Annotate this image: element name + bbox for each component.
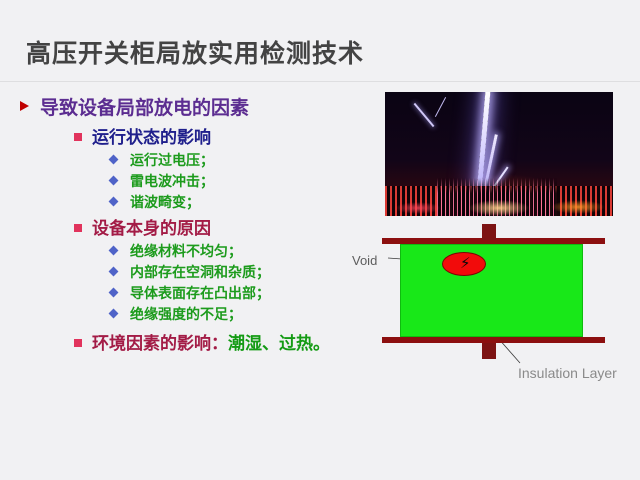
list-item-label: 导体表面存在凸出部；: [130, 285, 270, 301]
list-item-label: 雷电波冲击；: [130, 173, 214, 189]
outline-section-heading: 运行状态的影响: [18, 125, 388, 150]
title-bar: 高压开关柜局放实用检测技术: [0, 34, 640, 88]
title-divider: [0, 81, 640, 82]
square-bullet-icon: [74, 133, 82, 141]
discharge-spark-icon: ⚡: [460, 256, 468, 272]
list-item-label: 绝缘材料不均匀；: [130, 243, 242, 259]
diamond-bullet-icon: [109, 246, 119, 256]
list-item: 导体表面存在凸出部；: [18, 283, 388, 304]
city-glow: [395, 202, 441, 214]
insulation-void-partial-discharge-diagram: ⚡ Void Insulation Layer: [370, 225, 630, 400]
outline-section-heading: 环境因素的影响：潮湿、过热。: [18, 331, 388, 356]
diamond-bullet-icon: [109, 176, 119, 186]
list-item-label: 内部存在空洞和杂质；: [130, 264, 270, 280]
arrow-right-icon: [20, 101, 29, 111]
outline-section-heading: 设备本身的原因: [18, 216, 388, 241]
insulation-layer-rect: [400, 244, 583, 337]
page-title: 高压开关柜局放实用检测技术: [26, 34, 364, 74]
list-item: 绝缘强度的不足；: [18, 304, 388, 325]
diamond-bullet-icon: [109, 155, 119, 165]
lightning-strike-over-city-photo: [385, 92, 613, 216]
outline-section-label-tail: 潮湿、过热。: [228, 334, 330, 353]
outline-list: 导致设备局部放电的因素 运行状态的影响 运行过电压； 雷电波冲击； 谐波畸变； …: [18, 96, 388, 356]
list-item: 绝缘材料不均匀；: [18, 241, 388, 262]
diamond-bullet-icon: [109, 267, 119, 277]
square-bullet-icon: [74, 339, 82, 347]
outline-level1-heading: 导致设备局部放电的因素: [18, 96, 388, 122]
list-item-label: 运行过电压；: [130, 152, 214, 168]
list-item: 谐波畸变；: [18, 192, 388, 213]
list-item-label: 绝缘强度的不足；: [130, 306, 242, 322]
void-label: Void: [352, 253, 377, 268]
list-item: 运行过电压；: [18, 150, 388, 171]
electrode-stub-bottom: [482, 343, 496, 359]
outline-section-label: 设备本身的原因: [92, 219, 211, 238]
city-glow: [469, 200, 529, 216]
city-glow: [551, 200, 605, 214]
list-item: 雷电波冲击；: [18, 171, 388, 192]
diamond-bullet-icon: [109, 197, 119, 207]
list-item-label: 谐波畸变；: [130, 194, 200, 210]
square-bullet-icon: [74, 224, 82, 232]
outline-level1-label: 导致设备局部放电的因素: [40, 98, 249, 119]
list-item: 内部存在空洞和杂质；: [18, 262, 388, 283]
outline-section-label: 环境因素的影响：: [92, 334, 228, 353]
slide-canvas: 高压开关柜局放实用检测技术 导致设备局部放电的因素 运行状态的影响 运行过电压；…: [0, 0, 640, 480]
electrode-stub-top: [482, 224, 496, 240]
void-ellipse: ⚡: [442, 252, 486, 276]
diamond-bullet-icon: [109, 309, 119, 319]
insulation-layer-label: Insulation Layer: [518, 365, 617, 381]
outline-section-label: 运行状态的影响: [92, 128, 211, 147]
diamond-bullet-icon: [109, 288, 119, 298]
